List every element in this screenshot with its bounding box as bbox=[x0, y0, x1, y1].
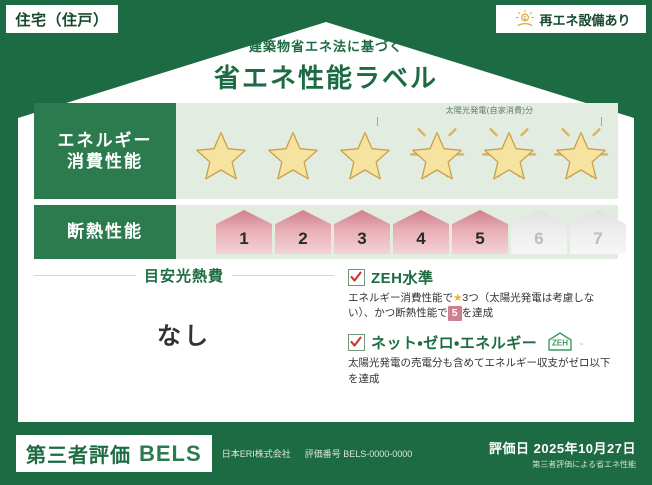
insulation-level-active: 3 bbox=[334, 210, 390, 254]
insulation-performance-label: 断熱性能 bbox=[34, 205, 176, 259]
footer-cert-line: 評価番号 BELS-0000-0000 bbox=[305, 447, 413, 460]
checkmark-icon bbox=[348, 334, 365, 351]
insulation-level-active: 5 bbox=[452, 210, 508, 254]
evaluation-date: 評価日 2025年10月27日 bbox=[489, 438, 636, 457]
energy-performance-label: エネルギー 消費性能 bbox=[34, 103, 176, 199]
insulation-level-strip: 1234567 bbox=[176, 210, 626, 254]
energy-performance-label: 住宅（住戸） E 再エネ設備あり 建築物省エネ法に基づく 省エネ性能ラベル bbox=[0, 0, 652, 485]
zeh-logo-icon: ZEH ™ bbox=[546, 331, 586, 353]
zeh-net-zero-title: ネット・ゼロ・エネルギー bbox=[371, 332, 537, 353]
insulation-level-inactive: 7 bbox=[570, 210, 626, 254]
checkmark-icon bbox=[348, 269, 365, 286]
insulation-level-active: 1 bbox=[216, 210, 272, 254]
energy-performance-content: 太陽光発電(自家消費)分 bbox=[176, 103, 618, 199]
zeh-item-net-zero: ネット・ゼロ・エネルギー ZEH ™ 太陽光発電の売電分も含めてエネルギー収支が… bbox=[348, 331, 618, 386]
star-solar bbox=[402, 111, 472, 191]
star-base bbox=[330, 111, 400, 191]
insulation-level-inactive: 6 bbox=[511, 210, 567, 254]
dwelling-type-tag: 住宅（住戸） bbox=[6, 5, 118, 33]
evaluation-subnote: 第三者評価による省エネ性能 bbox=[489, 459, 636, 470]
insulation-label-text: 断熱性能 bbox=[67, 221, 143, 242]
rating-rows: エネルギー 消費性能 太陽光発電(自家消費)分 bbox=[34, 103, 618, 265]
sun-icon: E bbox=[515, 9, 535, 29]
energy-label-line1: エネルギー bbox=[58, 130, 153, 151]
dwelling-type-label: 住宅（住戸） bbox=[15, 9, 108, 30]
zeh-standard-head: ZEH水準 bbox=[348, 267, 618, 288]
zeh-standard-title: ZEH水準 bbox=[371, 267, 434, 288]
renewable-equipment-tag: E 再エネ設備あり bbox=[496, 5, 646, 33]
bels-badge-jp: 第三者評価 bbox=[26, 439, 131, 468]
energy-performance-row: エネルギー 消費性能 太陽光発電(自家消費)分 bbox=[34, 103, 618, 199]
utility-cost-heading: 目安光熱費 bbox=[34, 265, 334, 286]
utility-cost-heading-text: 目安光熱費 bbox=[144, 265, 224, 286]
bels-badge: 第三者評価 BELS bbox=[16, 435, 212, 472]
zeh-net-zero-head: ネット・ゼロ・エネルギー ZEH ™ bbox=[348, 331, 618, 353]
zeh-desc-suffix: を達成 bbox=[462, 307, 494, 319]
energy-label-line2: 消費性能 bbox=[67, 151, 143, 172]
svg-text:ZEH: ZEH bbox=[552, 339, 568, 348]
inline-star-icon: ★ bbox=[453, 292, 462, 304]
zeh-panel: ZEH水準 エネルギー消費性能で★3つ（太陽光発電は考慮しない）、かつ断熱性能で… bbox=[344, 265, 618, 405]
footer-bar: 第三者評価 BELS 日本ERI株式会社 評価番号 BELS-0000-0000… bbox=[0, 422, 652, 485]
star-base bbox=[258, 111, 328, 191]
renewable-equipment-label: 再エネ設備あり bbox=[539, 10, 630, 29]
zeh-net-zero-description: 太陽光発電の売電分も含めてエネルギー収支がゼロ以下を達成 bbox=[348, 356, 618, 386]
bels-badge-en: BELS bbox=[139, 441, 202, 467]
star-solar bbox=[546, 111, 616, 191]
star-base bbox=[186, 111, 256, 191]
utility-cost-panel: 目安光熱費 なし bbox=[34, 265, 334, 405]
zeh-standard-description: エネルギー消費性能で★3つ（太陽光発電は考慮しない）、かつ断熱性能で5を達成 bbox=[348, 291, 618, 321]
zeh-desc-prefix: エネルギー消費性能で bbox=[348, 292, 453, 304]
footer-org-info: 日本ERI株式会社 評価番号 BELS-0000-0000 bbox=[222, 447, 413, 460]
insulation-level-active: 2 bbox=[275, 210, 331, 254]
evaluation-date-value: 2025年10月27日 bbox=[534, 441, 636, 456]
evaluation-date-label: 評価日 bbox=[489, 441, 530, 456]
footer-org-line: 日本ERI株式会社 bbox=[222, 447, 291, 460]
footer-evaluation-info: 評価日 2025年10月27日 第三者評価による省エネ性能 bbox=[489, 438, 636, 470]
inline-insulation-level: 5 bbox=[448, 306, 462, 321]
svg-text:™: ™ bbox=[579, 342, 583, 347]
utility-cost-value: なし bbox=[34, 316, 334, 351]
star-solar bbox=[474, 111, 544, 191]
star-rating-strip bbox=[176, 111, 618, 191]
insulation-performance-content: 1234567 bbox=[176, 205, 626, 259]
zeh-item-standard: ZEH水準 エネルギー消費性能で★3つ（太陽光発電は考慮しない）、かつ断熱性能で… bbox=[348, 267, 618, 321]
bottom-panels: 目安光熱費 なし ZEH水準 エネルギー消費性能で★3つ（太陽光発電は考慮しない… bbox=[34, 265, 618, 405]
insulation-performance-row: 断熱性能 1234567 bbox=[34, 205, 618, 259]
insulation-level-active: 4 bbox=[393, 210, 449, 254]
svg-text:E: E bbox=[524, 16, 528, 22]
